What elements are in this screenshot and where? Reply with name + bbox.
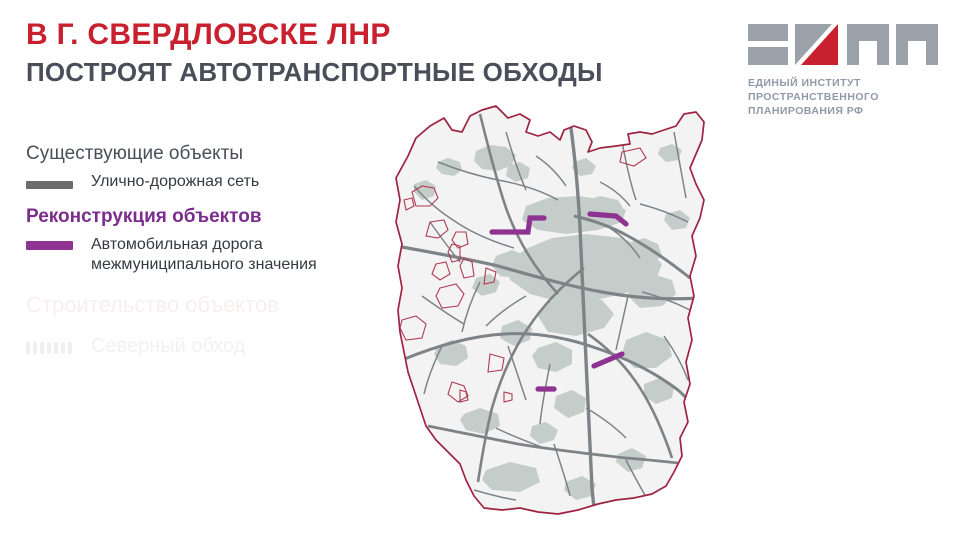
legend-label-street-road-network: Улично-дорожная сеть — [91, 172, 259, 192]
map-container — [378, 96, 718, 536]
page-title-primary: В Г. СВЕРДЛОВСКЕ ЛНР — [26, 18, 666, 53]
legend-item-north-bypass: Северный обход — [26, 334, 406, 358]
logo-caption: ЕДИНЫЙ ИНСТИТУТ ПРОСТРАНСТВЕННОГО ПЛАНИР… — [748, 77, 948, 119]
infographic-slide: В Г. СВЕРДЛОВСКЕ ЛНР ПОСТРОЯТ АВТОТРАНСП… — [0, 0, 960, 540]
legend-label-north-bypass: Северный обход — [91, 334, 245, 358]
legend-swatch-dashed-line — [26, 342, 73, 354]
logo-caption-line2: ПРОСТРАНСТВЕННОГО — [748, 91, 948, 105]
legend-group-construction: Строительство объектов Северный обход — [26, 292, 406, 359]
legend-swatch-purple-line — [26, 241, 73, 250]
legend-group-reconstruction: Реконструкция объектов Автомобильная дор… — [26, 205, 406, 274]
legend-swatch-gray-line — [26, 181, 73, 189]
legend-group-existing: Существующие объекты Улично-дорожная сет… — [26, 142, 406, 191]
organization-logo: ЕДИНЫЙ ИНСТИТУТ ПРОСТРАНСТВЕННОГО ПЛАНИР… — [748, 22, 948, 119]
legend-item-street-road-network: Улично-дорожная сеть — [26, 172, 406, 192]
title-block: В Г. СВЕРДЛОВСКЕ ЛНР ПОСТРОЯТ АВТОТРАНСП… — [26, 18, 666, 88]
legend-label-intermunicipal-road: Автомобильная дорога межмуниципального з… — [91, 235, 381, 274]
logo-caption-line1: ЕДИНЫЙ ИНСТИТУТ — [748, 77, 948, 91]
legend-heading-construction: Строительство объектов — [26, 292, 406, 318]
page-title-secondary: ПОСТРОЯТ АВТОТРАНСПОРТНЫЕ ОБХОДЫ — [26, 57, 626, 88]
map-legend: Существующие объекты Улично-дорожная сет… — [26, 142, 406, 363]
legend-item-intermunicipal-road: Автомобильная дорога межмуниципального з… — [26, 235, 406, 274]
eipp-logo-mark-icon — [748, 22, 938, 68]
legend-heading-reconstruction: Реконструкция объектов — [26, 205, 406, 229]
sverdlovsk-district-map — [378, 96, 718, 536]
logo-caption-line3: ПЛАНИРОВАНИЯ РФ — [748, 105, 948, 119]
legend-heading-existing: Существующие объекты — [26, 142, 406, 166]
